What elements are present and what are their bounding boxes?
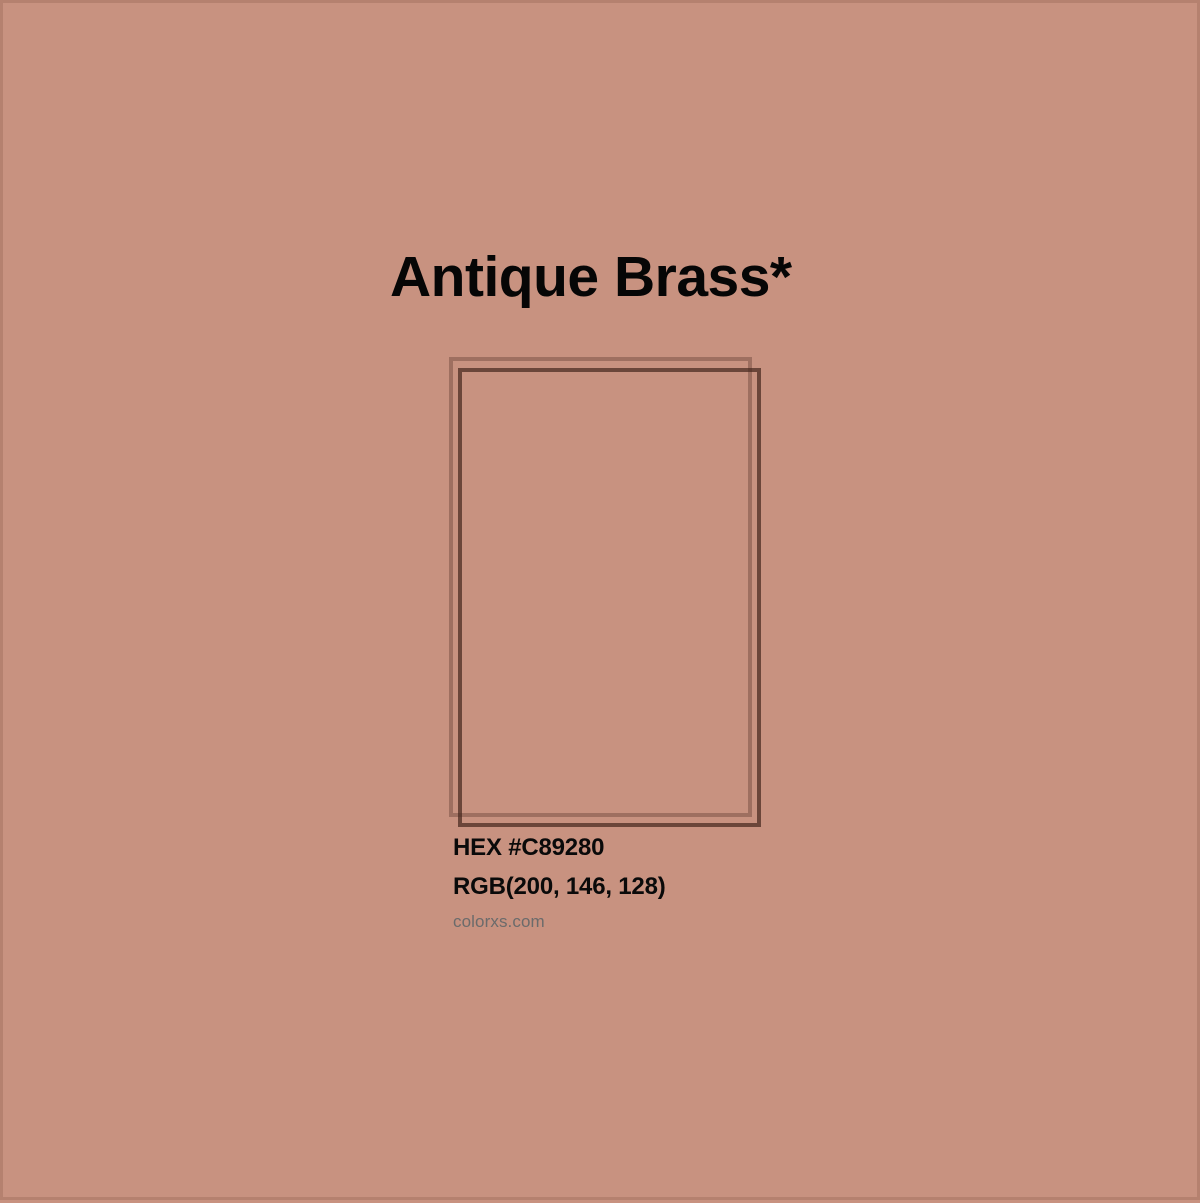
color-swatch bbox=[3, 3, 1200, 1203]
page-title: Antique Brass* bbox=[390, 248, 792, 308]
swatch-frame-front bbox=[458, 368, 761, 827]
color-swatch-page: Antique Brass* HEX #C89280 RGB(200, 146,… bbox=[0, 0, 1200, 1200]
site-credit: colorxs.com bbox=[453, 913, 873, 930]
rgb-value: RGB(200, 146, 128) bbox=[453, 875, 873, 899]
hex-value: HEX #C89280 bbox=[453, 836, 873, 860]
color-values: HEX #C89280 RGB(200, 146, 128) colorxs.c… bbox=[453, 836, 873, 930]
swatch-frame-back bbox=[449, 357, 752, 817]
